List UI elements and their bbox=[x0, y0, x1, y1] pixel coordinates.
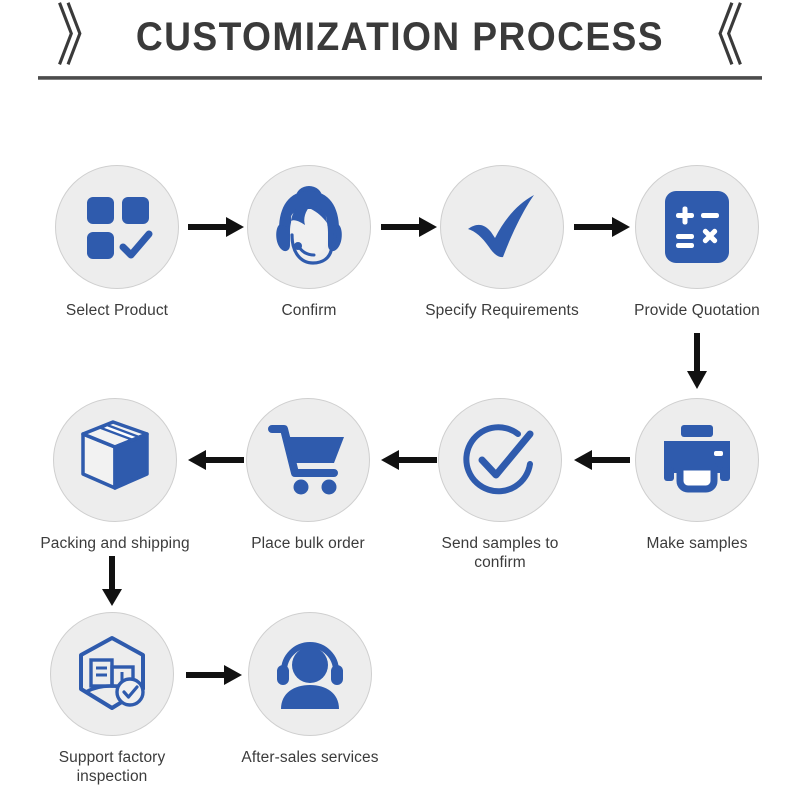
step-label: Send samples to confirm bbox=[420, 534, 580, 572]
step-icon-bubble bbox=[246, 398, 370, 522]
page-title: CUSTOMIZATION PROCESS bbox=[136, 13, 664, 61]
step-node-specify-requirements[interactable]: Specify Requirements bbox=[422, 165, 582, 320]
step-label: Select Product bbox=[37, 301, 197, 320]
step-icon-bubble bbox=[247, 165, 371, 289]
shopping-cart-icon bbox=[268, 423, 348, 497]
factory-shield-check-icon bbox=[72, 634, 152, 714]
step-node-provide-quotation[interactable]: Provide Quotation bbox=[617, 165, 777, 320]
grid-check-icon bbox=[79, 189, 155, 265]
checkmark-icon bbox=[462, 187, 542, 267]
step-node-packing-and-shipping[interactable]: Packing and shipping bbox=[35, 398, 195, 553]
printer-icon bbox=[658, 423, 736, 497]
chevron-right-decoration-icon: 》 bbox=[56, 3, 110, 71]
step-icon-bubble bbox=[248, 612, 372, 736]
step-node-place-bulk-order[interactable]: Place bulk order bbox=[228, 398, 388, 553]
package-box-icon bbox=[75, 420, 155, 500]
header: 》 CUSTOMIZATION PROCESS 《 bbox=[0, 0, 800, 96]
circle-check-icon bbox=[460, 420, 540, 500]
title-divider bbox=[38, 76, 762, 80]
step-icon-bubble bbox=[438, 398, 562, 522]
step-node-make-samples[interactable]: Make samples bbox=[617, 398, 777, 553]
step-node-support-factory-inspection[interactable]: Support factory inspection bbox=[32, 612, 192, 786]
calculator-icon bbox=[663, 189, 731, 265]
step-icon-bubble bbox=[440, 165, 564, 289]
support-agent-icon bbox=[269, 185, 349, 269]
step-label: After-sales services bbox=[230, 748, 390, 767]
connector-arrow-down bbox=[684, 333, 710, 389]
title-row: 》 CUSTOMIZATION PROCESS 《 bbox=[0, 10, 800, 64]
step-label: Specify Requirements bbox=[422, 301, 582, 320]
step-icon-bubble bbox=[50, 612, 174, 736]
step-label: Support factory inspection bbox=[32, 748, 192, 786]
step-icon-bubble bbox=[635, 165, 759, 289]
step-label: Provide Quotation bbox=[617, 301, 777, 320]
connector-arrow-down bbox=[99, 556, 125, 606]
step-label: Confirm bbox=[229, 301, 389, 320]
step-icon-bubble bbox=[635, 398, 759, 522]
step-node-after-sales-services[interactable]: After-sales services bbox=[230, 612, 390, 767]
step-node-send-samples-to-confirm[interactable]: Send samples to confirm bbox=[420, 398, 580, 572]
step-label: Make samples bbox=[617, 534, 777, 553]
step-node-confirm[interactable]: Confirm bbox=[229, 165, 389, 320]
step-label: Packing and shipping bbox=[35, 534, 195, 553]
headset-person-icon bbox=[271, 637, 349, 711]
step-icon-bubble bbox=[53, 398, 177, 522]
chevron-left-decoration-icon: 《 bbox=[690, 3, 744, 71]
step-icon-bubble bbox=[55, 165, 179, 289]
step-label: Place bulk order bbox=[228, 534, 388, 553]
step-node-select-product[interactable]: Select Product bbox=[37, 165, 197, 320]
